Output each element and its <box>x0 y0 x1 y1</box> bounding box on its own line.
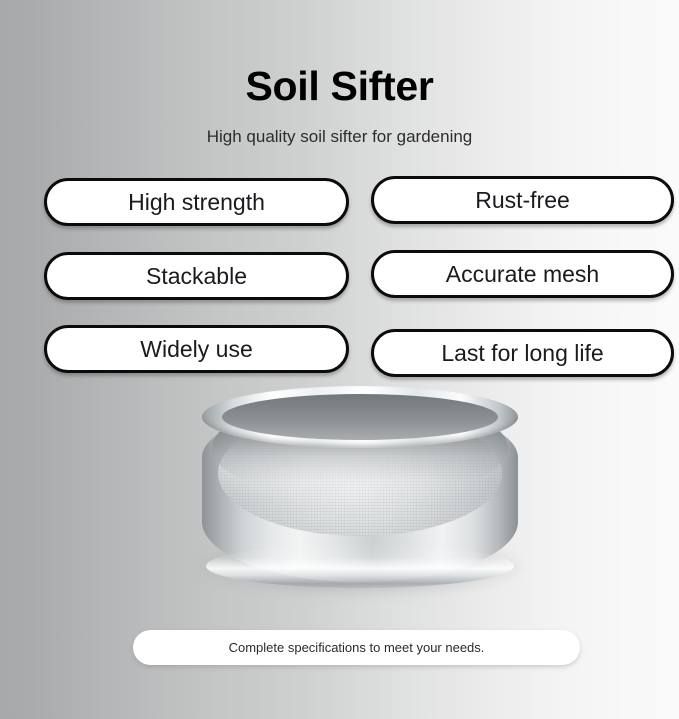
feature-pill-high-strength: High strength <box>44 178 349 226</box>
sifter-top-rim <box>202 386 518 448</box>
sifter-lower-rim-highlight <box>206 544 514 588</box>
page-title: Soil Sifter <box>0 62 679 110</box>
page-subtitle: High quality soil sifter for gardening <box>0 126 679 148</box>
product-infographic: Soil Sifter High quality soil sifter for… <box>0 0 679 719</box>
feature-pill-accurate-mesh: Accurate mesh <box>371 250 674 298</box>
feature-pill-widely-use: Widely use <box>44 325 349 373</box>
feature-pill-last-for-long-life: Last for long life <box>371 329 674 377</box>
product-photo-soil-sifter <box>190 386 530 601</box>
feature-pill-rust-free: Rust-free <box>371 176 674 224</box>
footer-caption-bar: Complete specifications to meet your nee… <box>133 630 580 665</box>
sifter-rim-opening <box>222 394 498 440</box>
feature-pill-stackable: Stackable <box>44 252 349 300</box>
